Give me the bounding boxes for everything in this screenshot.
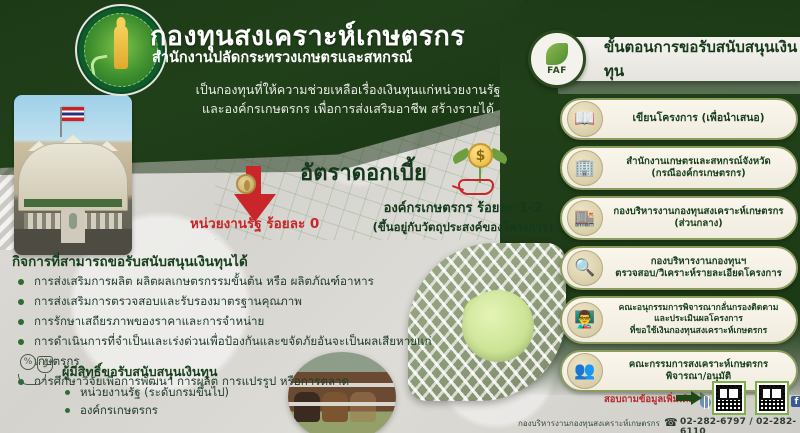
document-hands-icon: 📖 — [567, 101, 603, 137]
cow-2 — [322, 392, 348, 422]
emblem-naga-icon — [89, 55, 111, 80]
steps-panel-title: ขั้นตอนการขอรับสนับสนุนเงินทุน — [604, 35, 800, 83]
step-label: กองบริหารงานกองทุนฯตรวจสอบ/วิเคราะห์รายล… — [609, 256, 788, 281]
activities-title: กิจการที่สามารถขอรับสนับสนุนเงินทุนได้ — [12, 250, 248, 272]
step-label: คณะอนุกรรมการพิจารณากลั่นกรองติดตามและปร… — [609, 303, 788, 337]
magnifier-review-icon: 🔍 — [567, 250, 603, 286]
faf-logo: FAF — [528, 30, 586, 88]
open-hand-icon — [18, 374, 46, 385]
footer-phone-numbers: 02-282-6797 / 02-282-6110 — [680, 417, 800, 433]
step-item-2[interactable]: 🏢 สำนักงานเกษตรและสหกรณ์จังหวัด(กรณีองค์… — [560, 146, 798, 190]
org-rate-value: องค์กรเกษตรกร ร้อยละ 1-2 — [358, 200, 568, 219]
office-building-icon: 🏢 — [567, 150, 603, 186]
list-item: หน่วยงานรัฐ (ระดับกรมขึ้นไป) — [62, 384, 229, 402]
phone-icon: ☎ — [664, 416, 678, 429]
list-item: การรักษาเสถียรภาพของราคาและการจำหน่าย — [16, 312, 436, 332]
page-description: เป็นกองทุนที่ให้ความช่วยเหลือเรื่องเงินท… — [168, 80, 528, 119]
infographic-canvas: กองทุนสงเคราะห์เกษตรกร สำนักงานปลัดกระทร… — [0, 0, 800, 433]
building-body — [18, 143, 128, 211]
coin-icon — [236, 174, 256, 194]
building-monument — [61, 209, 85, 243]
money-bag-icon: $ — [37, 356, 53, 373]
list-item: การส่งเสริมการตรวจสอบและรับรองมาตรฐานคุณ… — [16, 292, 436, 312]
money-plant-icon: $ — [450, 143, 510, 205]
board-meeting-icon: 👥 — [567, 353, 603, 389]
description-line-1: เป็นกองทุนที่ให้ความช่วยเหลือเรื่องเงินท… — [168, 80, 528, 99]
list-item: การส่งเสริมการผลิต ผลิตผลเกษตรกรรมขั้นต้… — [16, 272, 436, 292]
gov-interest-rate: หน่วยงานรัฐ ร้อยละ 0 — [190, 212, 319, 234]
step-item-4[interactable]: 🔍 กองบริหารงานกองทุนฯตรวจสอบ/วิเคราะห์รา… — [560, 246, 798, 290]
footer-organization: กองบริหารงานกองทุนสงเคราะห์เกษตรกร — [518, 417, 660, 430]
qr-pattern — [716, 385, 742, 411]
presentation-committee-icon: 👨‍🏫 — [567, 302, 603, 338]
step-item-1[interactable]: 📖 เขียนโครงการ (เพื่อนำเสนอ) — [560, 98, 798, 140]
description-line-2: และองค์กรเกษตรกร เพื่อการส่งเสริมอาชีพ ส… — [168, 99, 528, 118]
facebook-icon[interactable]: f — [791, 396, 800, 407]
building-signboard — [24, 199, 122, 207]
melon-top-view — [462, 290, 534, 362]
eligibility-list: หน่วยงานรัฐ (ระดับกรมขึ้นไป) องค์กรเกษตร… — [62, 384, 229, 419]
step-label: คณะกรรมการสงเคราะห์เกษตรกรพิจารณา/อนุมัต… — [609, 359, 788, 384]
eligibility-title: ผู้มีสิทธิ์ขอรับสนับสนุนเงินทุน — [62, 362, 229, 382]
org-rate-note: (ขึ้นอยู่กับวัตถุประสงค์ของโครงการ) — [358, 219, 568, 236]
emblem-deity-figure — [114, 25, 128, 69]
fund-office-icon: 🏬 — [567, 200, 603, 236]
hand-icon — [458, 179, 494, 195]
eligibility-section: % $ ผู้มีสิทธิ์ขอรับสนับสนุนเงินทุน หน่ว… — [62, 362, 229, 419]
step-label: เขียนโครงการ (เพื่อนำเสนอ) — [609, 112, 788, 126]
steps-panel-header: ขั้นตอนการขอรับสนับสนุนเงินทุน — [550, 37, 800, 81]
dollar-coin-icon: $ — [468, 143, 493, 168]
ministry-building-photo — [14, 95, 132, 255]
qr-code-facebook[interactable] — [755, 381, 789, 415]
interest-rate-title: อัตราดอกเบี้ย — [300, 155, 427, 190]
list-item: องค์กรเกษตรกร — [62, 402, 229, 420]
page-subtitle: สำนักงานปลัดกระทรวงเกษตรและสหกรณ์ — [152, 46, 412, 69]
leaf-icon — [546, 43, 568, 65]
thai-flag-icon — [62, 107, 84, 121]
faf-logo-text: FAF — [547, 66, 567, 76]
step-label: สำนักงานเกษตรและสหกรณ์จังหวัด(กรณีองค์กร… — [609, 156, 788, 181]
cow-1 — [294, 392, 320, 422]
percent-icon: % — [20, 354, 36, 370]
emblem-inner-disc — [84, 13, 158, 87]
globe-icon[interactable] — [700, 397, 711, 408]
cow-3 — [350, 392, 376, 422]
qr-code-website[interactable] — [712, 381, 746, 415]
money-hand-icon: % $ — [16, 354, 58, 388]
step-item-3[interactable]: 🏬 กองบริหารงานกองทุนสงเคราะห์เกษตรกร(ส่ว… — [560, 196, 798, 240]
org-interest-rate: องค์กรเกษตรกร ร้อยละ 1-2 (ขึ้นอยู่กับวัต… — [358, 200, 568, 236]
step-label: กองบริหารงานกองทุนสงเคราะห์เกษตรกร(ส่วนก… — [609, 206, 788, 231]
qr-pattern — [759, 385, 785, 411]
step-item-5[interactable]: 👨‍🏫 คณะอนุกรรมการพิจารณากลั่นกรองติดตามแ… — [560, 296, 798, 344]
cattle-fence-rail-bottom — [288, 402, 396, 406]
